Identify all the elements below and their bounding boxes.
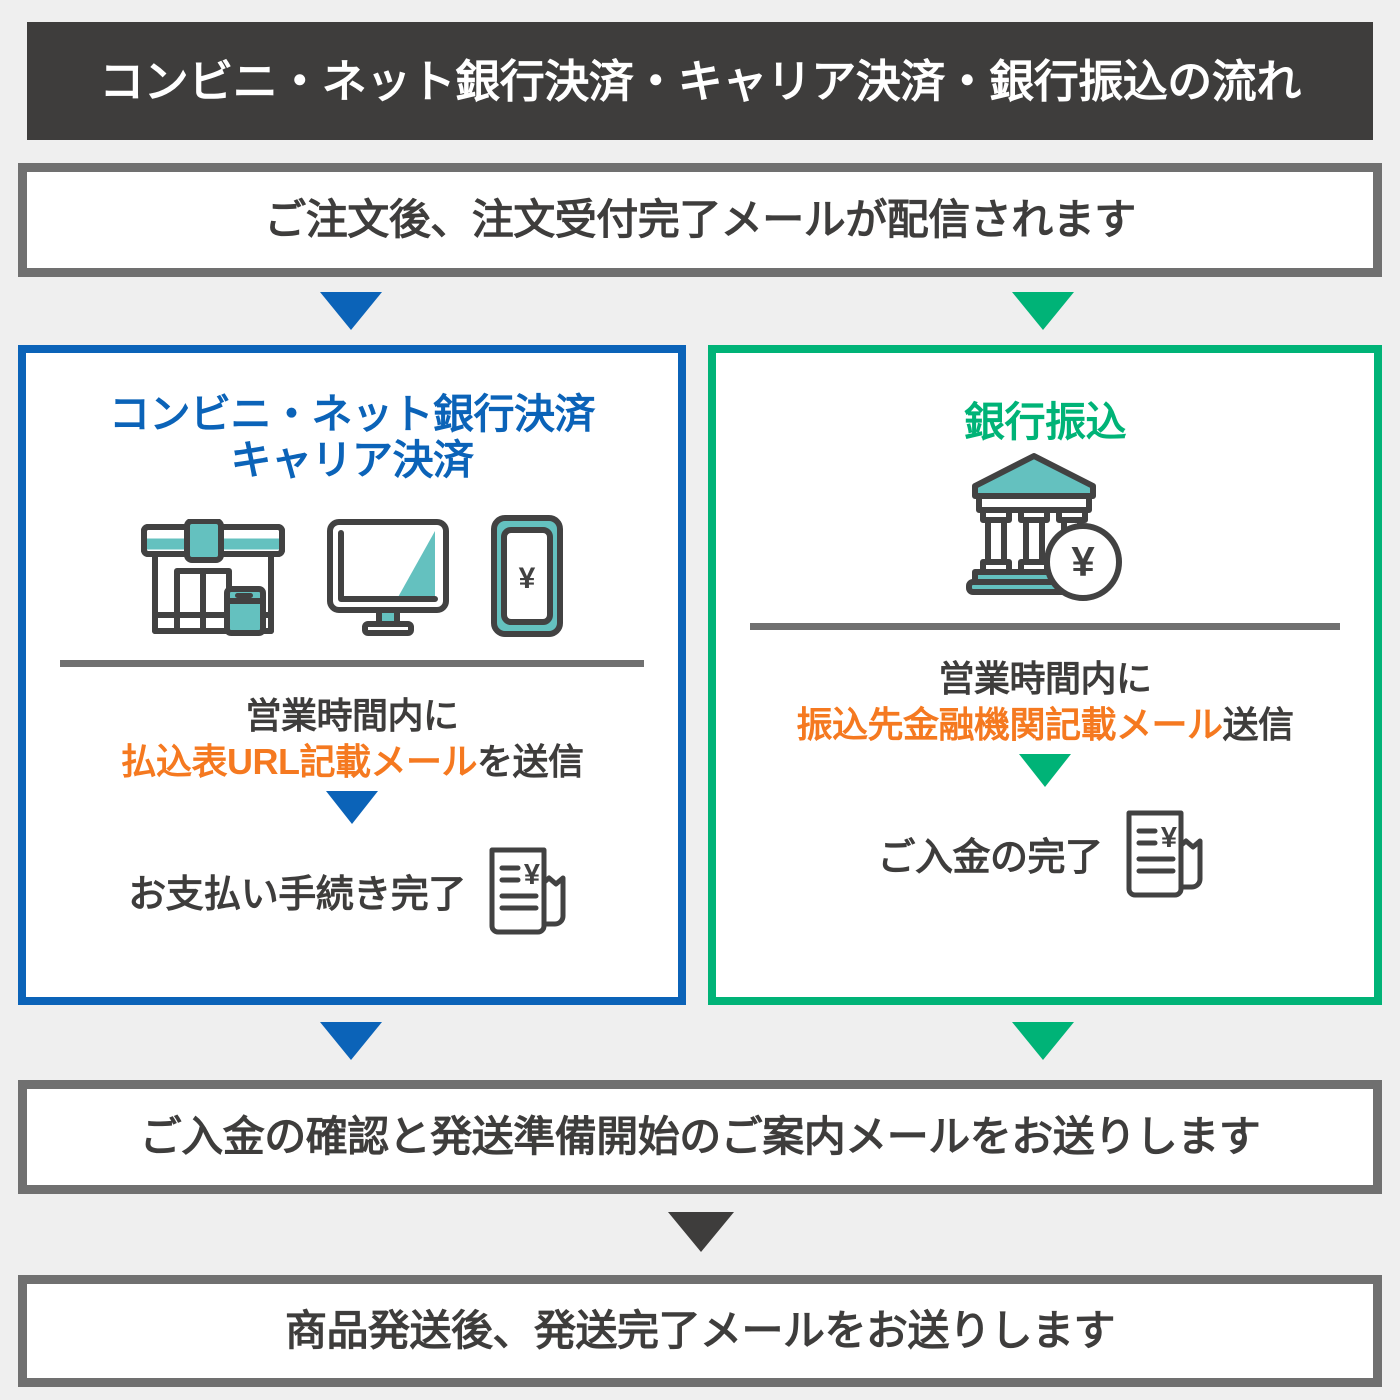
arrow-down-from-bank-icon (1012, 1022, 1074, 1060)
panel-conveni-note-suffix: を送信 (477, 741, 584, 782)
panel-bank-heading-line1: 銀行振込 (964, 399, 1126, 445)
desktop-monitor-icon (325, 517, 451, 644)
svg-text:¥: ¥ (1160, 822, 1176, 854)
panel-conveni-heading-line2: キャリア決済 (109, 437, 595, 483)
bank-building-yen-icon: ¥ (961, 452, 1129, 607)
panel-conveni-note: 営業時間内に 払込表URL記載メールを送信 (120, 693, 583, 785)
arrow-down-bank-to-done-icon (1019, 754, 1071, 787)
panel-bank-transfer: 銀行振込 (708, 345, 1382, 1005)
panel-bank-heading: 銀行振込 (964, 399, 1126, 445)
step-payment-confirmation-box: ご入金の確認と発送準備開始のご案内メールをお送りします (18, 1080, 1382, 1194)
panel-conveni-divider (60, 660, 644, 667)
arrow-down-from-conveni-icon (320, 1022, 382, 1060)
smartphone-yen-icon: ¥ (489, 513, 565, 644)
arrow-down-conveni-to-done-icon (326, 791, 378, 824)
panel-conveni-heading: コンビニ・ネット銀行決済 キャリア決済 (109, 391, 595, 484)
panel-bank-done-row: ご入金の完了 ¥ (877, 803, 1212, 904)
arrow-down-to-shipped-icon (668, 1212, 734, 1252)
receipt-yen-icon: ¥ (482, 840, 576, 941)
step-payment-confirmation-text: ご入金の確認と発送準備開始のご案内メールをお送りします (140, 1116, 1261, 1158)
panel-conveni-done-text: お支払い手続き完了 (128, 863, 466, 918)
step-shipment-notification-box: 商品発送後、発送完了メールをお送りします (18, 1275, 1382, 1387)
panel-conveni-heading-line1: コンビニ・ネット銀行決済 (109, 391, 595, 437)
panel-bank-note-suffix: 送信 (1223, 704, 1294, 745)
panel-conveni-icon-row: ¥ (139, 504, 565, 644)
panel-bank-done-text: ご入金の完了 (877, 826, 1102, 881)
arrow-down-to-conveni-icon (320, 292, 382, 330)
step-shipment-notification-text: 商品発送後、発送完了メールをお送りします (285, 1310, 1115, 1352)
step-order-confirmation-text: ご注文後、注文受付完了メールが配信されます (264, 199, 1136, 241)
panel-conveni-note-line1: 営業時間内に (120, 693, 583, 739)
panel-bank-note-highlight: 振込先金融機関記載メール (796, 704, 1222, 745)
panel-bank-note: 営業時間内に 振込先金融機関記載メール送信 (796, 656, 1293, 748)
svg-text:¥: ¥ (519, 562, 536, 595)
page-title: コンビニ・ネット銀行決済・キャリア決済・銀行振込の流れ (99, 59, 1301, 104)
panel-bank-divider (750, 623, 1340, 630)
arrow-down-to-bank-icon (1012, 292, 1074, 330)
panel-bank-icon-row: ¥ (961, 467, 1129, 607)
panel-conveni-note-highlight: 払込表URL記載メール (120, 741, 477, 782)
svg-text:¥: ¥ (524, 859, 540, 891)
page-title-bar: コンビニ・ネット銀行決済・キャリア決済・銀行振込の流れ (27, 22, 1373, 140)
svg-text:¥: ¥ (1071, 538, 1095, 585)
receipt-yen-icon: ¥ (1119, 803, 1213, 904)
step-order-confirmation-box: ご注文後、注文受付完了メールが配信されます (18, 163, 1382, 277)
panel-convenience-payment: コンビニ・ネット銀行決済 キャリア決済 (18, 345, 686, 1005)
panel-conveni-done-row: お支払い手続き完了 ¥ (128, 840, 576, 941)
convenience-store-icon (139, 519, 287, 644)
panel-bank-note-line1: 営業時間内に (796, 656, 1293, 702)
